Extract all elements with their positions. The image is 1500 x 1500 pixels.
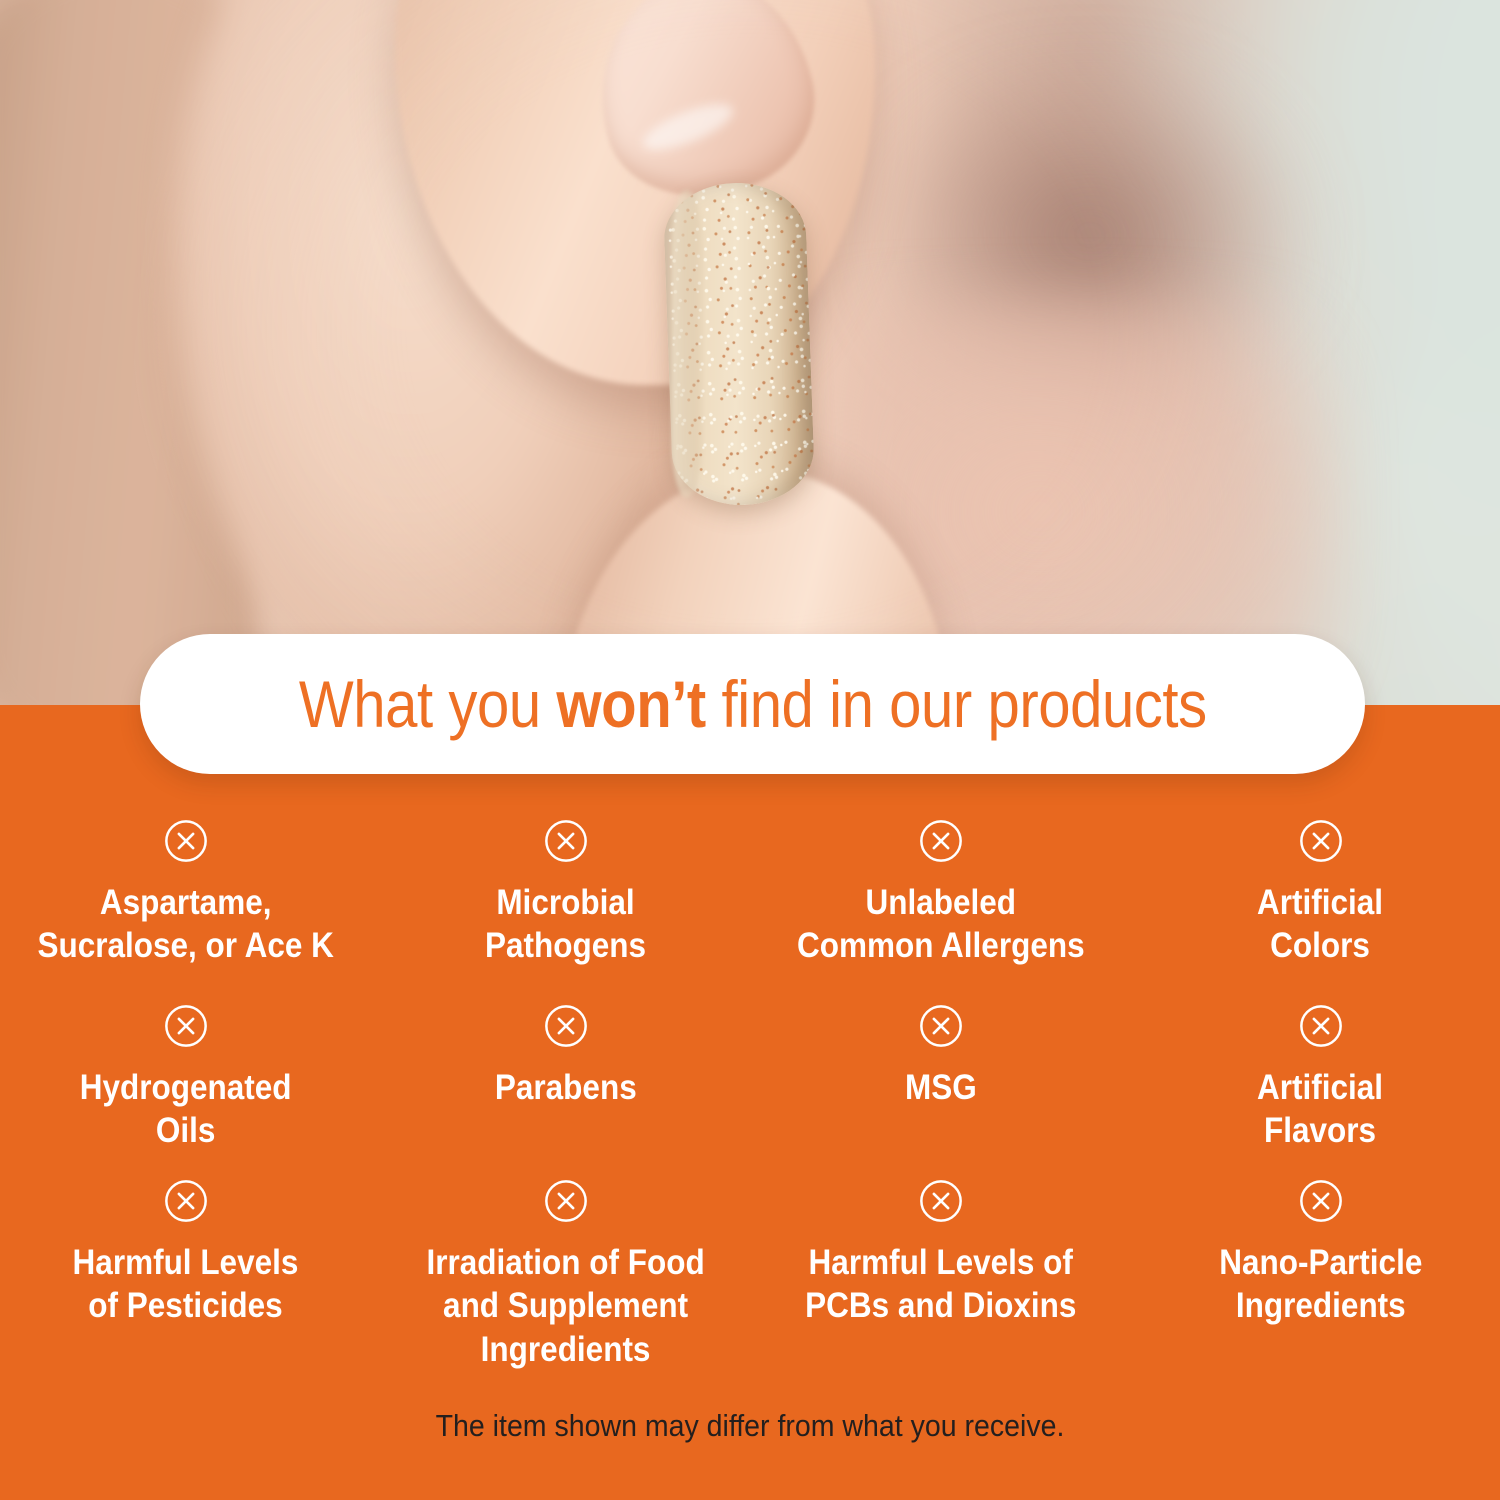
circle-x-icon xyxy=(543,818,589,864)
grid-item: Irradiation of Food and Supplement Ingre… xyxy=(378,1172,753,1362)
grid-row: Hydrogenated Oils Parabens MSG xyxy=(0,997,1500,1172)
page-title: What you won’t find in our products xyxy=(299,671,1207,737)
grid-item: Artificial Flavors xyxy=(1133,997,1500,1172)
circle-x-icon xyxy=(1298,818,1344,864)
grid-row: Harmful Levels of Pesticides Irradiation… xyxy=(0,1172,1500,1362)
circle-x-icon xyxy=(918,1003,964,1049)
grid-item-label: MSG xyxy=(905,1066,977,1109)
circle-x-icon xyxy=(918,818,964,864)
circle-x-icon xyxy=(1298,1003,1344,1049)
grid-item: Parabens xyxy=(378,997,753,1172)
grid-item: Nano-Particle Ingredients xyxy=(1133,1172,1500,1362)
circle-x-icon xyxy=(543,1178,589,1224)
grid-item: Artificial Colors xyxy=(1133,812,1500,997)
circle-x-icon xyxy=(163,818,209,864)
circle-x-icon xyxy=(163,1178,209,1224)
grid-item: Microbial Pathogens xyxy=(378,812,753,997)
grid-item: Harmful Levels of Pesticides xyxy=(0,1172,373,1362)
grid-item: MSG xyxy=(753,997,1128,1172)
grid-item: Harmful Levels of PCBs and Dioxins xyxy=(753,1172,1128,1362)
grid-item-label: Microbial Pathogens xyxy=(485,881,646,968)
circle-x-icon xyxy=(1298,1178,1344,1224)
hand-holding-tablet-photo xyxy=(0,0,1500,710)
grid-item-label: Artificial Flavors xyxy=(1257,1066,1383,1153)
excluded-ingredients-grid: Aspartame, Sucralose, or Ace K Microbial… xyxy=(0,812,1500,1362)
grid-item-label: Aspartame, Sucralose, or Ace K xyxy=(37,881,333,968)
title-suffix: find in our products xyxy=(706,667,1207,741)
grid-item: Hydrogenated Oils xyxy=(0,997,373,1172)
title-prefix: What you xyxy=(299,667,557,741)
title-banner: What you won’t find in our products xyxy=(140,634,1365,774)
circle-x-icon xyxy=(918,1178,964,1224)
grid-item: Unlabeled Common Allergens xyxy=(753,812,1128,997)
grid-item-label: Harmful Levels of Pesticides xyxy=(73,1241,299,1328)
product-infographic-page: What you won’t find in our products Aspa… xyxy=(0,0,1500,1500)
title-emphasis: won’t xyxy=(556,667,705,741)
circle-x-icon xyxy=(543,1003,589,1049)
grid-item-label: Irradiation of Food and Supplement Ingre… xyxy=(426,1241,704,1371)
grid-item: Aspartame, Sucralose, or Ace K xyxy=(0,812,373,997)
grid-item-label: Unlabeled Common Allergens xyxy=(797,881,1085,968)
disclaimer-text: The item shown may differ from what you … xyxy=(60,1408,1440,1444)
grid-item-label: Artificial Colors xyxy=(1257,881,1383,968)
grid-item-label: Hydrogenated Oils xyxy=(80,1066,292,1153)
grid-item-label: Parabens xyxy=(495,1066,637,1109)
grid-item-label: Nano-Particle Ingredients xyxy=(1219,1241,1422,1328)
circle-x-icon xyxy=(163,1003,209,1049)
grid-row: Aspartame, Sucralose, or Ace K Microbial… xyxy=(0,812,1500,997)
supplement-tablet-edge xyxy=(672,190,702,498)
grid-item-label: Harmful Levels of PCBs and Dioxins xyxy=(805,1241,1076,1328)
